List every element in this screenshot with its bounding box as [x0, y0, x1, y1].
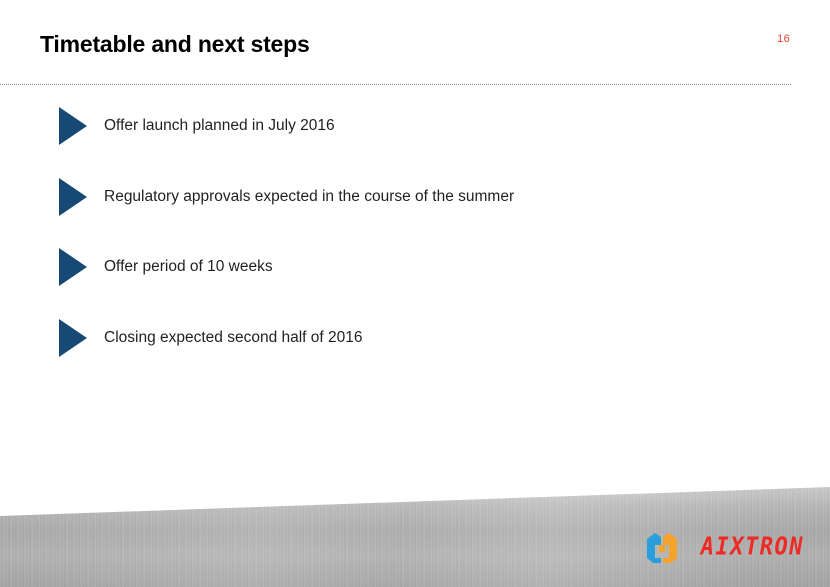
aixtron-wordmark: AIXTRON	[701, 536, 804, 561]
page-number: 16	[777, 33, 790, 45]
aixtron-logo-mark-icon	[645, 531, 679, 565]
triangle-right-icon	[58, 318, 88, 358]
list-item-label: Offer launch planned in July 2016	[104, 118, 335, 134]
list-item-label: Offer period of 10 weeks	[104, 259, 273, 275]
list-item: Offer period of 10 weeks	[58, 247, 273, 287]
footer-band: AIXTRON	[0, 487, 830, 587]
list-item: Closing expected second half of 2016	[58, 318, 363, 358]
list-item: Regulatory approvals expected in the cou…	[58, 177, 514, 217]
triangle-right-icon	[58, 177, 88, 217]
page-title: Timetable and next steps	[40, 31, 310, 58]
slide-canvas: Timetable and next steps 16 Offer launch…	[0, 0, 830, 587]
list-item-label: Closing expected second half of 2016	[104, 330, 363, 346]
triangle-right-icon	[58, 106, 88, 146]
list-item-label: Regulatory approvals expected in the cou…	[104, 189, 514, 205]
list-item: Offer launch planned in July 2016	[58, 106, 335, 146]
triangle-right-icon	[58, 247, 88, 287]
title-divider	[0, 84, 791, 85]
aixtron-logo: AIXTRON	[645, 531, 804, 565]
